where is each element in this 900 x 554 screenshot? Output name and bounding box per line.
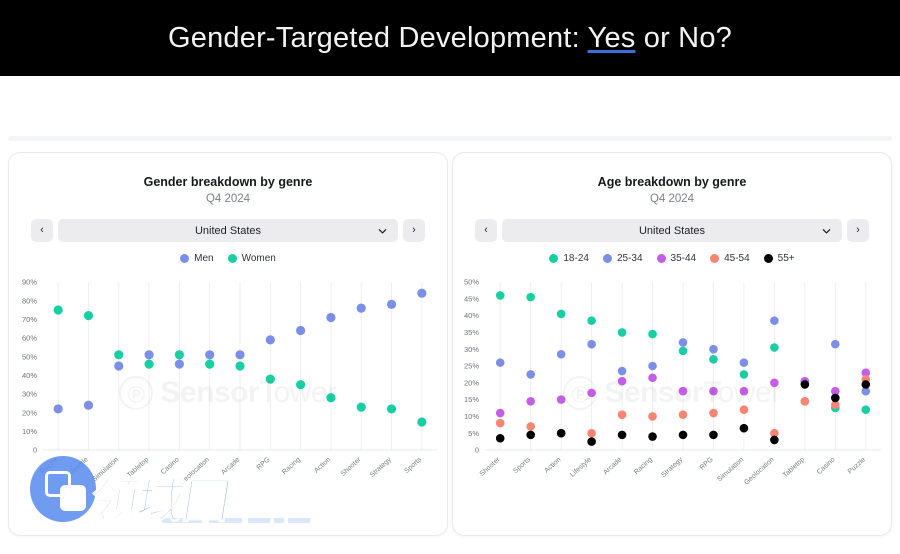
y-axis-tick-label: 50% bbox=[22, 352, 37, 361]
age-region-selector: ‹ United States › bbox=[475, 219, 869, 242]
data-point[interactable] bbox=[618, 431, 627, 440]
data-point[interactable] bbox=[84, 401, 93, 410]
data-point[interactable] bbox=[587, 437, 596, 446]
age-legend: 18-2425-3435-4445-5455+ bbox=[453, 253, 891, 264]
y-axis-tick-label: 80% bbox=[22, 296, 37, 305]
gender-card-title: Gender breakdown by genre bbox=[9, 175, 447, 189]
age-card-title: Age breakdown by genre bbox=[453, 175, 891, 189]
data-point[interactable] bbox=[266, 374, 275, 383]
y-axis-tick-label: 45% bbox=[464, 294, 479, 303]
data-point[interactable] bbox=[679, 347, 688, 356]
chevron-down-icon bbox=[378, 226, 386, 234]
legend-dot-icon bbox=[228, 254, 237, 263]
age-next-button[interactable]: › bbox=[847, 219, 869, 242]
data-point[interactable] bbox=[144, 350, 153, 359]
data-point[interactable] bbox=[618, 377, 627, 386]
age-plot-area: Ⓟ SensorTower 05%10%15%20%25%30%35%40%45… bbox=[453, 274, 891, 512]
header-banner: Gender-Targeted Development: Yes or No? bbox=[0, 0, 900, 76]
data-point[interactable] bbox=[84, 311, 93, 320]
data-point[interactable] bbox=[357, 402, 366, 411]
y-axis-tick-label: 10% bbox=[464, 412, 479, 421]
y-axis-tick-label: 25% bbox=[464, 362, 479, 371]
data-point[interactable] bbox=[496, 419, 505, 428]
data-point[interactable] bbox=[587, 340, 596, 349]
x-axis-tick-label: Casino bbox=[816, 456, 837, 476]
data-point[interactable] bbox=[417, 289, 426, 298]
legend-dot-icon bbox=[603, 254, 612, 263]
data-point[interactable] bbox=[648, 330, 657, 339]
data-point[interactable] bbox=[175, 350, 184, 359]
data-point[interactable] bbox=[205, 360, 214, 369]
data-point[interactable] bbox=[114, 350, 123, 359]
age-breakdown-card: Age breakdown by genre Q4 2024 ‹ United … bbox=[452, 152, 892, 536]
data-point[interactable] bbox=[357, 304, 366, 313]
data-point[interactable] bbox=[205, 350, 214, 359]
x-axis-tick-label: Racing bbox=[633, 456, 654, 476]
gender-breakdown-card: Gender breakdown by genre Q4 2024 ‹ Unit… bbox=[8, 152, 448, 536]
age-legend-item-1[interactable]: 25-34 bbox=[603, 253, 643, 264]
data-point[interactable] bbox=[496, 409, 505, 418]
age-legend-item-4[interactable]: 55+ bbox=[764, 253, 795, 264]
age-prev-button[interactable]: ‹ bbox=[475, 219, 497, 242]
data-point[interactable] bbox=[175, 360, 184, 369]
data-point[interactable] bbox=[740, 405, 749, 414]
data-point[interactable] bbox=[387, 300, 396, 309]
data-point[interactable] bbox=[740, 424, 749, 433]
data-point[interactable] bbox=[801, 397, 810, 406]
chevron-down-icon bbox=[822, 226, 830, 234]
legend-dot-icon bbox=[549, 254, 558, 263]
data-point[interactable] bbox=[740, 358, 749, 367]
data-point[interactable] bbox=[648, 373, 657, 382]
data-point[interactable] bbox=[526, 422, 535, 431]
data-point[interactable] bbox=[709, 387, 718, 396]
gender-legend-item-1[interactable]: Women bbox=[228, 253, 276, 264]
data-point[interactable] bbox=[326, 313, 335, 322]
data-point[interactable] bbox=[770, 343, 779, 352]
gender-card-subtitle: Q4 2024 bbox=[9, 193, 447, 205]
data-point[interactable] bbox=[496, 291, 505, 300]
data-point[interactable] bbox=[54, 305, 63, 314]
data-point[interactable] bbox=[526, 293, 535, 302]
y-axis-tick-label: 0 bbox=[33, 446, 37, 455]
x-axis-tick-label: Tabletop bbox=[782, 456, 806, 479]
x-axis-tick-label: Puzzle bbox=[847, 456, 867, 475]
data-point[interactable] bbox=[861, 405, 870, 414]
data-point[interactable] bbox=[144, 360, 153, 369]
data-point[interactable] bbox=[526, 370, 535, 379]
gender-prev-button[interactable]: ‹ bbox=[31, 219, 53, 242]
age-card-subtitle: Q4 2024 bbox=[453, 193, 891, 205]
y-axis-tick-label: 40% bbox=[464, 311, 479, 320]
page-root: Gender-Targeted Development: Yes or No? … bbox=[0, 0, 900, 554]
page-title-part-1: Gender-Targeted Development: bbox=[168, 22, 588, 54]
y-axis-tick-label: 40% bbox=[22, 371, 37, 380]
data-point[interactable] bbox=[618, 328, 627, 337]
x-axis-tick-label: Casino bbox=[160, 456, 181, 476]
legend-label: 35-44 bbox=[671, 253, 697, 264]
y-axis-tick-label: 5% bbox=[468, 429, 479, 438]
y-axis-tick-label: 20% bbox=[464, 378, 479, 387]
legend-label: Men bbox=[194, 253, 213, 264]
data-point[interactable] bbox=[770, 379, 779, 388]
data-point[interactable] bbox=[618, 410, 627, 419]
x-axis-tick-label: Geolocation bbox=[743, 456, 776, 486]
gender-next-button[interactable]: › bbox=[403, 219, 425, 242]
age-region-dropdown[interactable]: United States bbox=[502, 219, 842, 242]
data-point[interactable] bbox=[296, 380, 305, 389]
x-axis-tick-label: Strategy bbox=[369, 456, 393, 479]
age-scatter-chart: 05%10%15%20%25%30%35%40%45%50%ShooterSpo… bbox=[453, 274, 893, 512]
data-point[interactable] bbox=[557, 429, 566, 438]
data-point[interactable] bbox=[296, 326, 305, 335]
data-point[interactable] bbox=[679, 387, 688, 396]
data-point[interactable] bbox=[417, 417, 426, 426]
data-point[interactable] bbox=[648, 432, 657, 441]
x-axis-tick-label: Puzzle bbox=[39, 456, 59, 475]
page-title-part-2: or No? bbox=[635, 22, 732, 54]
gender-region-dropdown[interactable]: United States bbox=[58, 219, 398, 242]
data-point[interactable] bbox=[709, 345, 718, 354]
age-legend-item-2[interactable]: 35-44 bbox=[657, 253, 697, 264]
data-point[interactable] bbox=[526, 397, 535, 406]
gender-plot-area: Ⓟ SensorTower 010%20%30%40%50%60%70%80%9… bbox=[9, 274, 447, 512]
y-axis-tick-label: 90% bbox=[22, 278, 37, 287]
data-point[interactable] bbox=[740, 370, 749, 379]
data-point[interactable] bbox=[587, 316, 596, 325]
data-point[interactable] bbox=[526, 431, 535, 440]
y-axis-tick-label: 70% bbox=[22, 315, 37, 324]
x-axis-tick-label: Geolocation bbox=[179, 456, 212, 486]
data-point[interactable] bbox=[709, 355, 718, 364]
y-axis-tick-label: 35% bbox=[464, 328, 479, 337]
x-axis-tick-label: RPG bbox=[699, 456, 715, 471]
gender-legend-item-0[interactable]: Men bbox=[180, 253, 213, 264]
data-point[interactable] bbox=[235, 350, 244, 359]
x-axis-tick-label: Tabletop bbox=[126, 456, 150, 479]
content-gap bbox=[0, 76, 900, 136]
data-point[interactable] bbox=[801, 380, 810, 389]
data-point[interactable] bbox=[770, 316, 779, 325]
gender-region-value: United States bbox=[195, 225, 261, 237]
legend-dot-icon bbox=[657, 254, 666, 263]
data-point[interactable] bbox=[679, 338, 688, 347]
y-axis-tick-label: 60% bbox=[22, 334, 37, 343]
data-point[interactable] bbox=[679, 431, 688, 440]
y-axis-tick-label: 30% bbox=[22, 390, 37, 399]
data-point[interactable] bbox=[618, 367, 627, 376]
y-axis-tick-label: 10% bbox=[22, 427, 37, 436]
data-point[interactable] bbox=[709, 409, 718, 418]
page-title-highlight: Yes bbox=[588, 22, 636, 54]
data-point[interactable] bbox=[679, 410, 688, 419]
data-point[interactable] bbox=[54, 404, 63, 413]
data-point[interactable] bbox=[740, 387, 749, 396]
section-divider bbox=[8, 136, 892, 141]
charts-container: Gender breakdown by genre Q4 2024 ‹ Unit… bbox=[0, 152, 900, 542]
x-axis-tick-label: Shooter bbox=[479, 456, 502, 478]
data-point[interactable] bbox=[114, 361, 123, 370]
data-point[interactable] bbox=[648, 362, 657, 371]
x-axis-tick-label: Action bbox=[543, 456, 562, 474]
y-axis-tick-label: 30% bbox=[464, 345, 479, 354]
data-point[interactable] bbox=[326, 393, 335, 402]
x-axis-tick-label: Simulation bbox=[716, 456, 745, 483]
x-axis-tick-label: Simulation bbox=[91, 456, 120, 483]
y-axis-tick-label: 0 bbox=[475, 446, 479, 455]
data-point[interactable] bbox=[648, 412, 657, 421]
x-axis-tick-label: Sports bbox=[512, 456, 532, 475]
y-axis-tick-label: 15% bbox=[464, 395, 479, 404]
legend-dot-icon bbox=[180, 254, 189, 263]
legend-dot-icon bbox=[764, 254, 773, 263]
x-axis-tick-label: Action bbox=[313, 456, 332, 474]
x-axis-tick-label: Lifestyle bbox=[569, 456, 593, 478]
data-point[interactable] bbox=[496, 434, 505, 443]
legend-label: Women bbox=[242, 253, 276, 264]
data-point[interactable] bbox=[557, 350, 566, 359]
x-axis-tick-label: Arcade bbox=[220, 456, 241, 476]
data-point[interactable] bbox=[266, 335, 275, 344]
data-point[interactable] bbox=[496, 358, 505, 367]
y-axis-tick-label: 20% bbox=[22, 408, 37, 417]
data-point[interactable] bbox=[709, 431, 718, 440]
gender-scatter-chart: 010%20%30%40%50%60%70%80%90%PuzzleLifest… bbox=[9, 274, 449, 512]
y-axis-tick-label: 50% bbox=[464, 278, 479, 287]
data-point[interactable] bbox=[557, 395, 566, 404]
age-legend-item-0[interactable]: 18-24 bbox=[549, 253, 589, 264]
legend-dot-icon bbox=[710, 254, 719, 263]
data-point[interactable] bbox=[831, 340, 840, 349]
legend-label: 25-34 bbox=[617, 253, 643, 264]
page-title: Gender-Targeted Development: Yes or No? bbox=[168, 22, 732, 55]
gender-region-selector: ‹ United States › bbox=[31, 219, 425, 242]
x-axis-tick-label: RPG bbox=[256, 456, 272, 471]
data-point[interactable] bbox=[831, 394, 840, 403]
gender-legend: MenWomen bbox=[9, 253, 447, 264]
x-axis-tick-label: Arcade bbox=[602, 456, 623, 476]
data-point[interactable] bbox=[587, 389, 596, 398]
data-point[interactable] bbox=[557, 310, 566, 319]
data-point[interactable] bbox=[861, 380, 870, 389]
data-point[interactable] bbox=[235, 361, 244, 370]
legend-label: 45-54 bbox=[724, 253, 750, 264]
data-point[interactable] bbox=[587, 429, 596, 438]
age-region-value: United States bbox=[639, 225, 705, 237]
data-point[interactable] bbox=[387, 404, 396, 413]
x-axis-tick-label: Sports bbox=[403, 456, 423, 475]
x-axis-tick-label: Shooter bbox=[340, 456, 363, 478]
x-axis-tick-label: Strategy bbox=[660, 456, 684, 479]
legend-label: 18-24 bbox=[563, 253, 589, 264]
legend-label: 55+ bbox=[778, 253, 795, 264]
age-legend-item-3[interactable]: 45-54 bbox=[710, 253, 750, 264]
x-axis-tick-label: Lifestyle bbox=[66, 456, 90, 478]
x-axis-tick-label: Racing bbox=[281, 456, 302, 476]
data-point[interactable] bbox=[770, 436, 779, 445]
